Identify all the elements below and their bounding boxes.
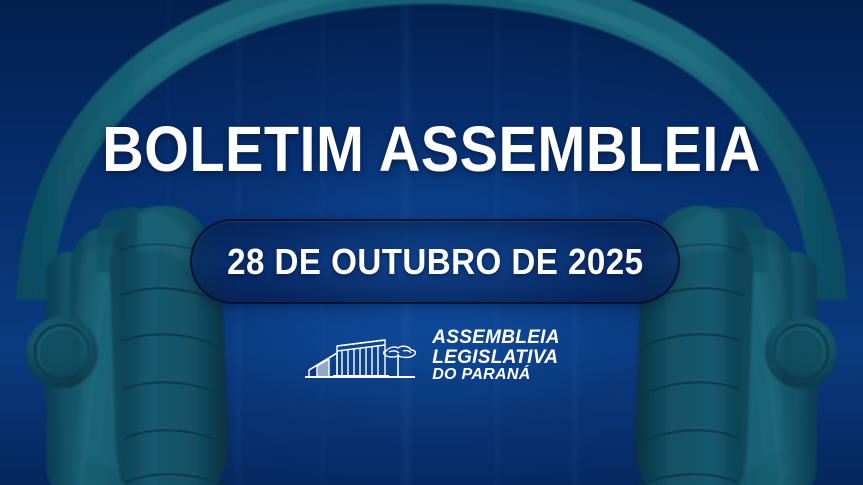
date-badge: 28 DE OUTUBRO DE 2025 <box>190 219 680 304</box>
logo-line-do-parana: DO PARANÁ <box>432 367 560 383</box>
banner-content: BOLETIM ASSEMBLEIA 28 DE OUTUBRO DE 2025 <box>0 0 863 485</box>
date-badge-label: 28 DE OUTUBRO DE 2025 <box>227 244 643 280</box>
page-title: BOLETIM ASSEMBLEIA <box>43 117 820 181</box>
logo-line-assembleia: ASSEMBLEIA <box>432 328 560 348</box>
boletim-assembleia-banner: BOLETIM ASSEMBLEIA 28 DE OUTUBRO DE 2025 <box>0 0 863 485</box>
logo-line-legislativa: LEGISLATIVA <box>432 348 560 368</box>
assembleia-building-icon <box>303 326 423 386</box>
assembleia-logo-wordmark: ASSEMBLEIA LEGISLATIVA DO PARANÁ <box>432 328 560 384</box>
assembleia-logo: ASSEMBLEIA LEGISLATIVA DO PARANÁ <box>0 326 863 386</box>
